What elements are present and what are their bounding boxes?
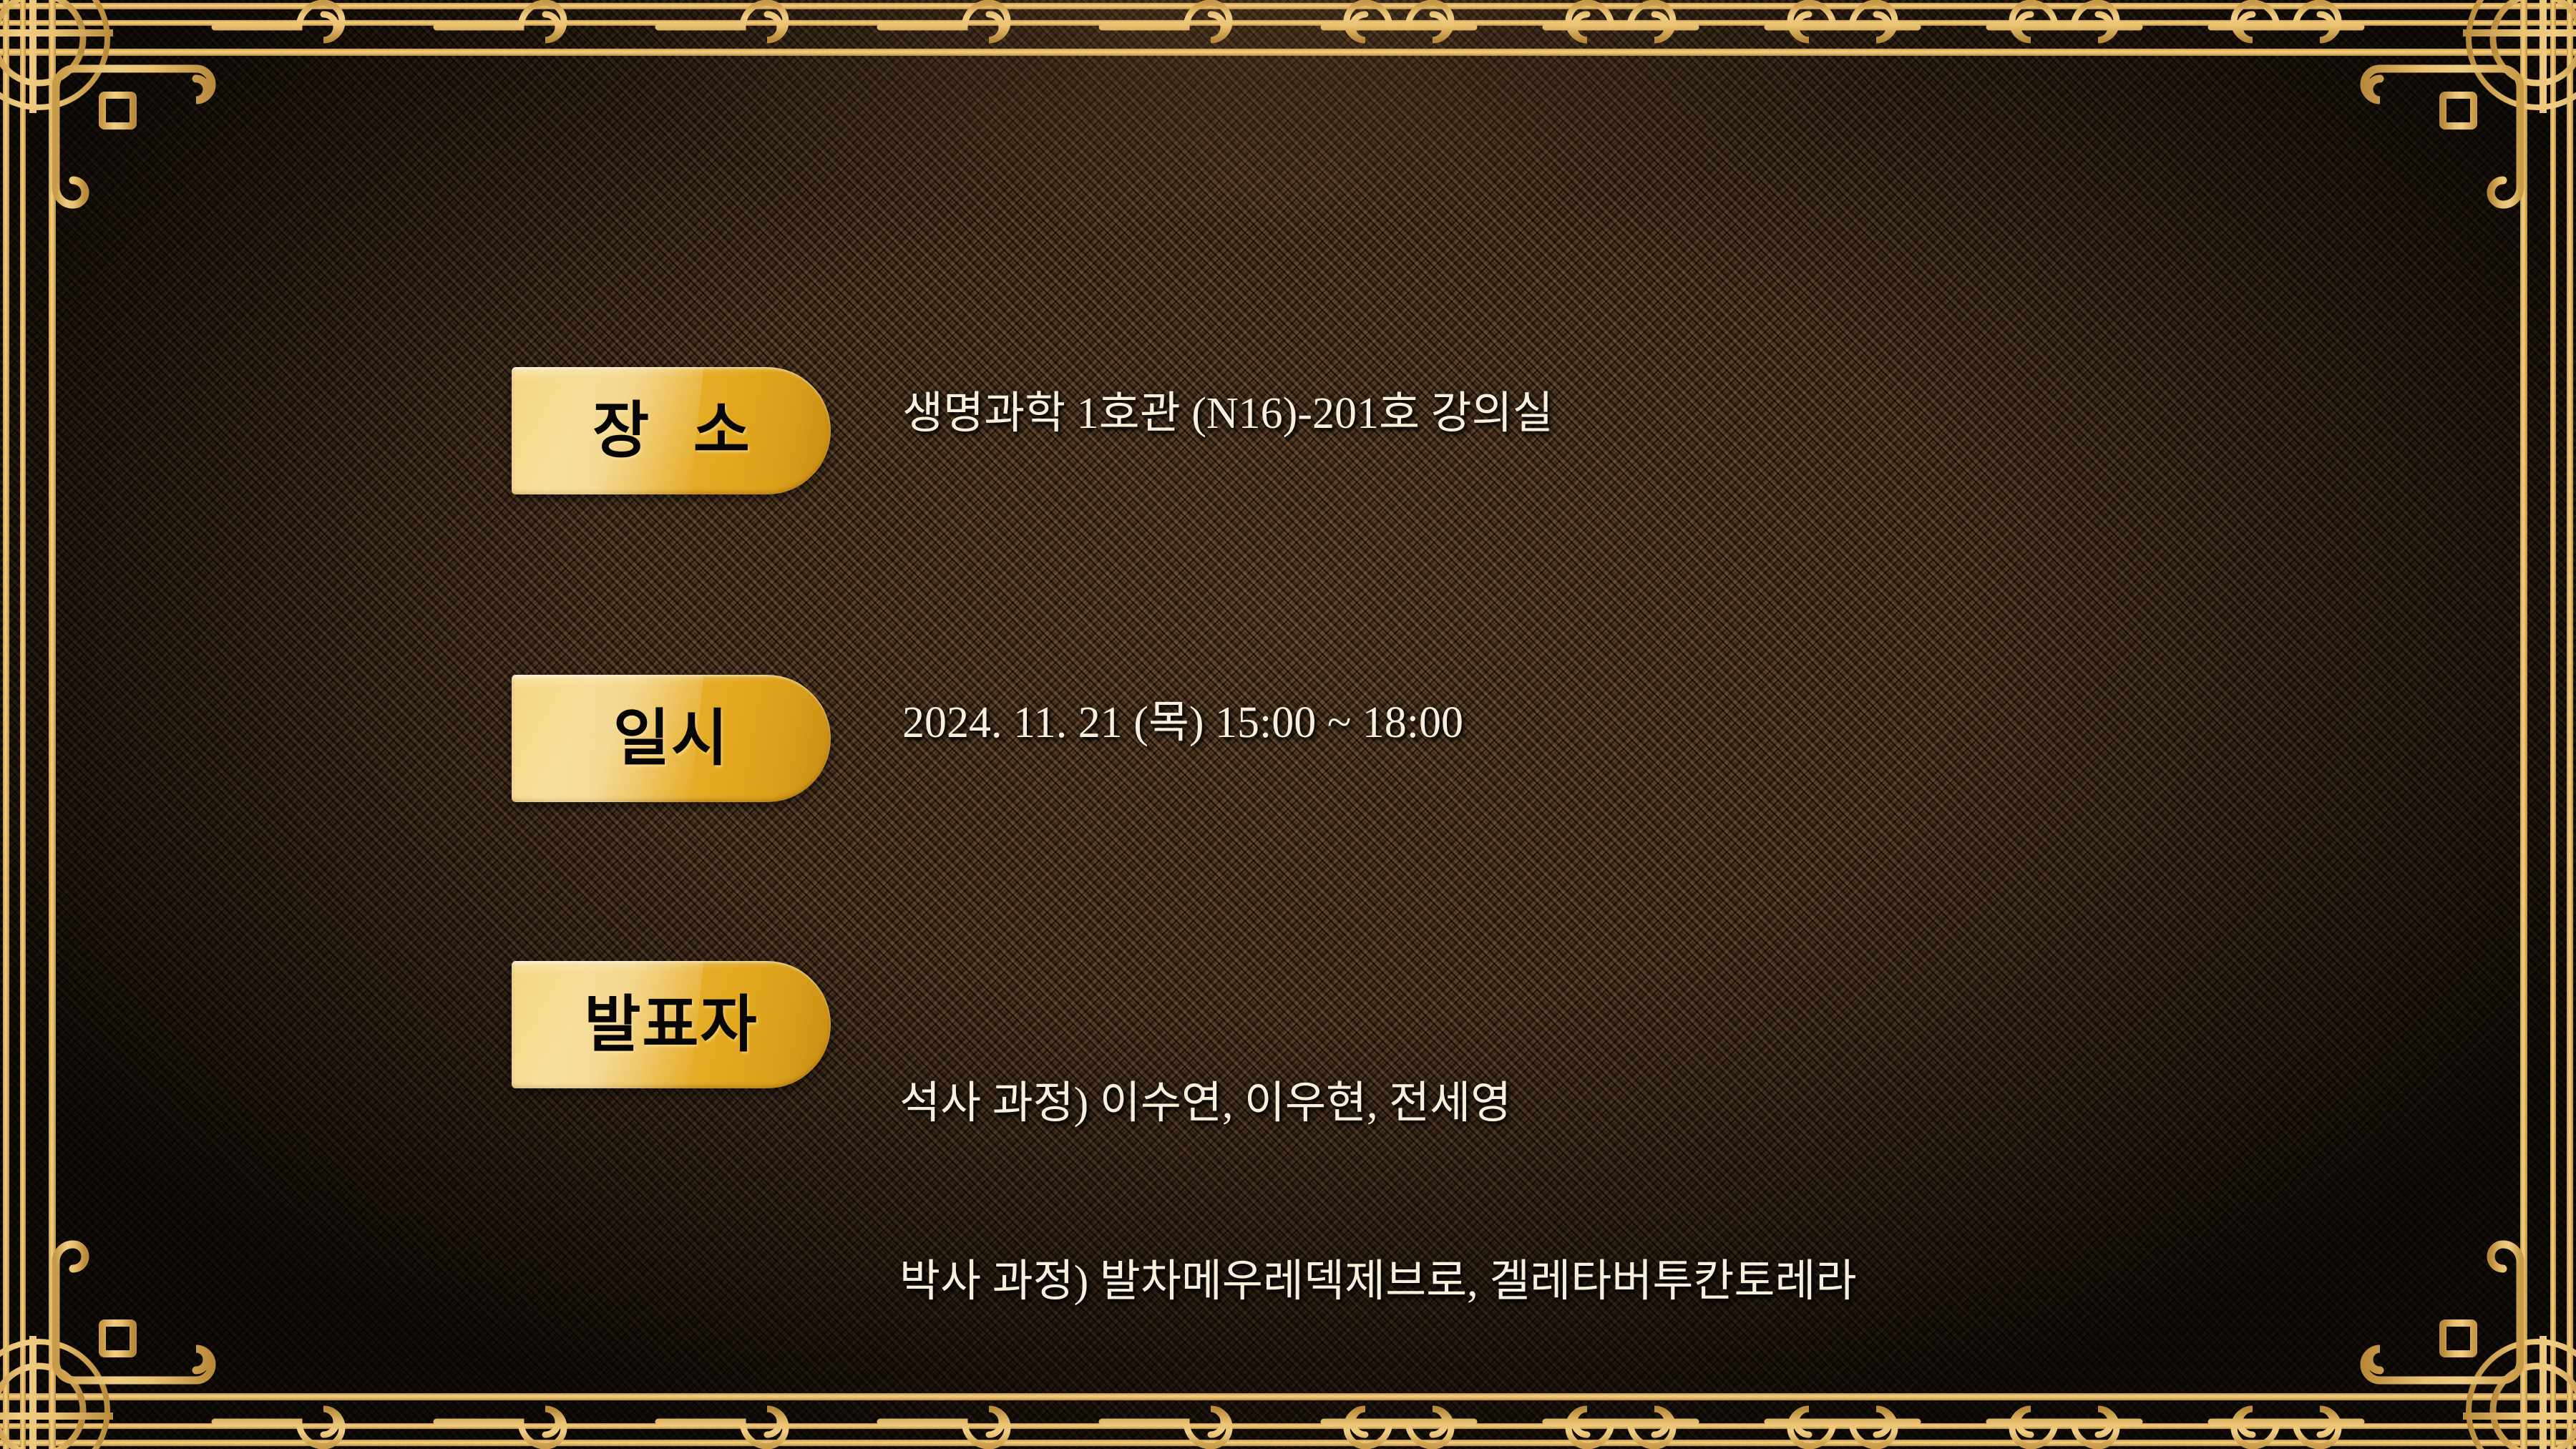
- label-plate-presenters-text: 발표자: [584, 994, 758, 1055]
- value-location: 생명과학 1호관 (N16)-201호 강의실: [902, 384, 1553, 444]
- value-datetime: 2024. 11. 21 (목) 15:00 ~ 18:00: [902, 693, 1463, 753]
- label-plate-location: 장 소: [512, 367, 831, 494]
- value-presenters-masters: 석사 과정) 이수연, 이우현, 전세영: [899, 1074, 1857, 1133]
- value-presenters: 석사 과정) 이수연, 이우현, 전세영 박사 과정) 발차메우레덱제브로, 겔…: [899, 955, 1857, 1431]
- value-presenters-phd: 박사 과정) 발차메우레덱제브로, 겔레타버투칸토레라: [899, 1252, 1857, 1312]
- presentation-slide: 장 소 생명과학 1호관 (N16)-201호 강의실 일시 2024. 11.…: [0, 0, 2576, 1449]
- info-row-datetime: 일시 2024. 11. 21 (목) 15:00 ~ 18:00: [512, 675, 1463, 802]
- label-plate-presenters: 발표자: [512, 961, 831, 1088]
- label-plate-datetime-text: 일시: [613, 708, 729, 769]
- info-row-location: 장 소 생명과학 1호관 (N16)-201호 강의실: [512, 367, 1553, 494]
- info-row-presenters: 발표자 석사 과정) 이수연, 이우현, 전세영 박사 과정) 발차메우레덱제브…: [512, 961, 1857, 1431]
- info-rows: 장 소 생명과학 1호관 (N16)-201호 강의실 일시 2024. 11.…: [0, 0, 2576, 1449]
- label-plate-location-text: 장 소: [578, 400, 764, 462]
- label-plate-datetime: 일시: [512, 675, 831, 802]
